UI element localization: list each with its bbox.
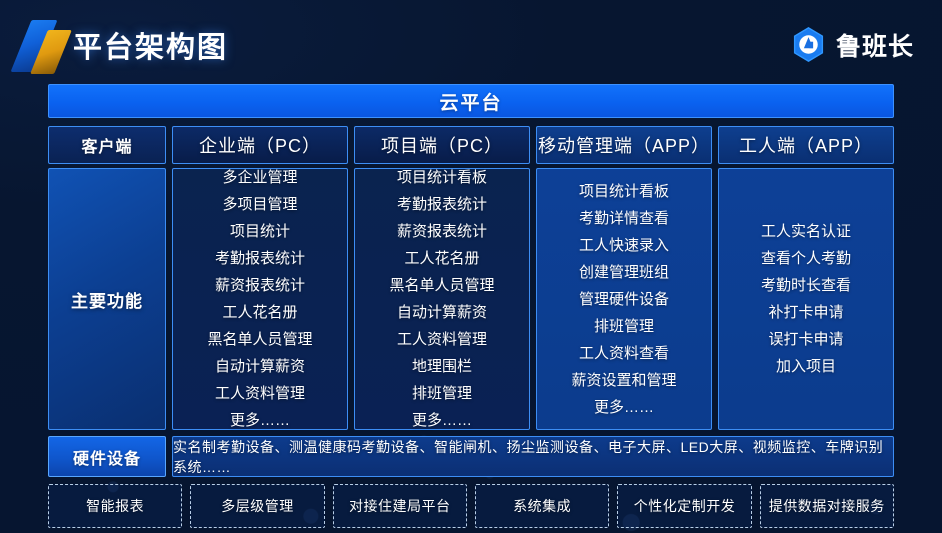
tag-multi-level-management[interactable]: 多层级管理	[190, 484, 324, 528]
function-list-mobile-admin-app: 项目统计看板 考勤详情查看 工人快速录入 创建管理班组 管理硬件设备 排班管理 …	[536, 168, 712, 430]
row-label-main-functions: 主要功能	[48, 168, 166, 430]
client-header-row: 客户端 企业端（PC） 项目端（PC） 移动管理端（APP） 工人端（APP）	[48, 126, 894, 164]
tag-data-integration-service[interactable]: 提供数据对接服务	[760, 484, 894, 528]
list-item: 补打卡申请	[768, 299, 843, 326]
list-item: 加入项目	[776, 353, 836, 380]
tag-system-integration[interactable]: 系统集成	[475, 484, 609, 528]
function-list-enterprise-pc: 多企业管理 多项目管理 项目统计 考勤报表统计 薪资报表统计 工人花名册 黑名单…	[172, 168, 348, 430]
column-header-mobile-admin-app[interactable]: 移动管理端（APP）	[536, 126, 712, 164]
tag-housing-bureau-platform[interactable]: 对接住建局平台	[333, 484, 467, 528]
list-item: 薪资报表统计	[397, 218, 487, 245]
cloud-platform-bar: 云平台	[48, 84, 894, 118]
list-item: 工人资料查看	[579, 340, 669, 367]
list-item: 误打卡申请	[768, 326, 843, 353]
list-item: 考勤详情查看	[579, 205, 669, 232]
hardware-row: 硬件设备 实名制考勤设备、测温健康码考勤设备、智能闸机、扬尘监测设备、电子大屏、…	[48, 436, 894, 477]
list-item: 工人快速录入	[579, 232, 669, 259]
list-item: 考勤报表统计	[215, 245, 305, 272]
list-item: 薪资设置和管理	[571, 367, 676, 394]
list-item: 地理围栏	[412, 353, 472, 380]
list-item: 工人实名认证	[761, 218, 851, 245]
service-tags-row: 智能报表 多层级管理 对接住建局平台 系统集成 个性化定制开发 提供数据对接服务	[48, 484, 894, 528]
list-item: 项目统计看板	[579, 178, 669, 205]
list-item: 黑名单人员管理	[389, 272, 494, 299]
list-item: 薪资报表统计	[215, 272, 305, 299]
tag-smart-reports[interactable]: 智能报表	[48, 484, 182, 528]
list-item: 多企业管理	[222, 164, 297, 191]
parallelogram-logo-icon	[17, 18, 73, 76]
list-item: 自动计算薪资	[397, 299, 487, 326]
list-item: 排班管理	[594, 313, 654, 340]
list-item: 工人花名册	[222, 299, 297, 326]
list-item: 工人资料管理	[397, 326, 487, 353]
hexagon-building-icon	[790, 26, 827, 63]
list-item: 创建管理班组	[579, 259, 669, 286]
list-item-more[interactable]: 更多……	[412, 407, 472, 434]
list-item: 多项目管理	[222, 191, 297, 218]
function-list-project-pc: 项目统计看板 考勤报表统计 薪资报表统计 工人花名册 黑名单人员管理 自动计算薪…	[354, 168, 530, 430]
architecture-board: 云平台 客户端 企业端（PC） 项目端（PC） 移动管理端（APP） 工人端（A…	[48, 84, 894, 533]
brand-name: 鲁班长	[836, 27, 914, 63]
row-label-client: 客户端	[48, 126, 166, 164]
column-header-worker-app[interactable]: 工人端（APP）	[718, 126, 894, 164]
column-header-project-pc[interactable]: 项目端（PC）	[354, 126, 530, 164]
list-item-more[interactable]: 更多……	[594, 394, 654, 421]
list-item: 考勤时长查看	[761, 272, 851, 299]
list-item: 自动计算薪资	[215, 353, 305, 380]
list-item: 工人资料管理	[215, 380, 305, 407]
list-item: 排班管理	[412, 380, 472, 407]
page-title: 平台架构图	[73, 24, 228, 66]
function-list-worker-app: 工人实名认证 查看个人考勤 考勤时长查看 补打卡申请 误打卡申请 加入项目	[718, 168, 894, 430]
list-item: 管理硬件设备	[579, 286, 669, 313]
row-label-hardware: 硬件设备	[48, 436, 166, 477]
tag-custom-development[interactable]: 个性化定制开发	[617, 484, 751, 528]
list-item: 查看个人考勤	[761, 245, 851, 272]
list-item: 项目统计看板	[397, 164, 487, 191]
slide-canvas: 平台架构图 鲁班长 云平台 客户端 企业端（PC） 项目端（PC） 移动管理端（…	[0, 0, 942, 533]
column-header-enterprise-pc[interactable]: 企业端（PC）	[172, 126, 348, 164]
list-item: 工人花名册	[404, 245, 479, 272]
list-item: 黑名单人员管理	[207, 326, 312, 353]
main-functions-row: 主要功能 多企业管理 多项目管理 项目统计 考勤报表统计 薪资报表统计 工人花名…	[48, 168, 894, 430]
list-item: 项目统计	[230, 218, 290, 245]
list-item: 考勤报表统计	[397, 191, 487, 218]
list-item-more[interactable]: 更多……	[230, 407, 290, 434]
slide-header: 平台架构图 鲁班长	[0, 0, 942, 84]
hardware-device-list: 实名制考勤设备、测温健康码考勤设备、智能闸机、扬尘监测设备、电子大屏、LED大屏…	[172, 436, 894, 477]
brand-logo: 鲁班长	[790, 26, 914, 63]
